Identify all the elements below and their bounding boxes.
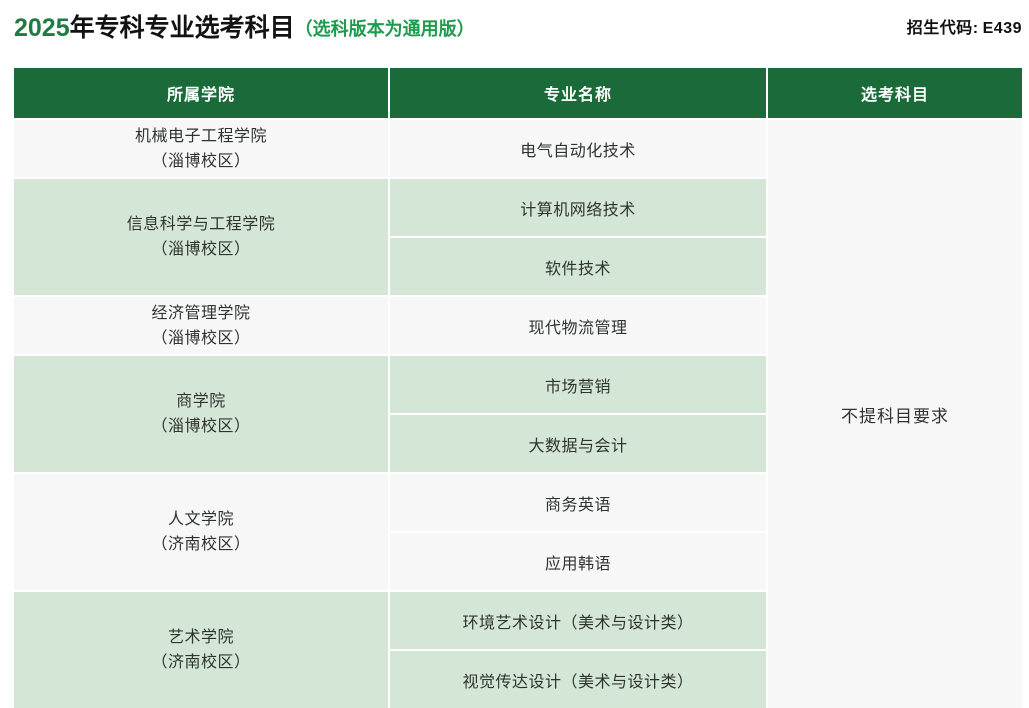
subject-selection-table: 所属学院 专业名称 选考科目 机械电子工程学院（淄博校区）信息科学与工程学院（淄… (14, 68, 1022, 708)
page-title-year: 2025 (14, 14, 70, 42)
major-group: 计算机网络技术软件技术 (390, 179, 766, 295)
major-group: 电气自动化技术 (390, 120, 766, 177)
admission-code-label: 招生代码: (907, 20, 979, 37)
college-campus: （济南校区） (151, 650, 250, 675)
table-header-subject: 选考科目 (768, 68, 1022, 118)
major-column: 电气自动化技术计算机网络技术软件技术现代物流管理市场营销大数据与会计商务英语应用… (390, 120, 766, 708)
major-cell: 应用韩语 (390, 533, 766, 590)
college-name: 艺术学院 (168, 625, 234, 650)
college-campus: （淄博校区） (151, 326, 250, 351)
college-cell: 信息科学与工程学院（淄博校区） (14, 179, 388, 295)
college-cell: 经济管理学院（淄博校区） (14, 297, 388, 354)
major-group: 商务英语应用韩语 (390, 474, 766, 590)
college-name: 信息科学与工程学院 (127, 212, 276, 237)
college-name: 经济管理学院 (151, 301, 250, 326)
college-cell: 人文学院（济南校区） (14, 474, 388, 590)
college-campus: （淄博校区） (151, 149, 250, 174)
major-cell: 大数据与会计 (390, 415, 766, 472)
page-title: 2025年专科专业选考科目（选科版本为通用版） (14, 13, 475, 45)
major-cell: 环境艺术设计（美术与设计类） (390, 592, 766, 649)
page-title-main: 年专科专业选考科目 (70, 14, 295, 42)
college-name: 人文学院 (168, 507, 234, 532)
table-body: 机械电子工程学院（淄博校区）信息科学与工程学院（淄博校区）经济管理学院（淄博校区… (14, 120, 1022, 708)
major-cell: 电气自动化技术 (390, 120, 766, 177)
major-group: 环境艺术设计（美术与设计类）视觉传达设计（美术与设计类） (390, 592, 766, 708)
subject-requirement-text: 不提科目要求 (841, 402, 949, 427)
table-header-row: 所属学院 专业名称 选考科目 (14, 68, 1022, 118)
page-title-note: （选科版本为通用版） (295, 19, 475, 39)
admission-code: 招生代码:E439 (907, 19, 1022, 39)
major-cell: 计算机网络技术 (390, 179, 766, 236)
page-header: 2025年专科专业选考科目（选科版本为通用版） 招生代码:E439 (0, 0, 1029, 60)
college-campus: （淄博校区） (151, 237, 250, 262)
table-header-major: 专业名称 (390, 68, 766, 118)
college-campus: （淄博校区） (151, 414, 250, 439)
major-cell: 市场营销 (390, 356, 766, 413)
major-group: 市场营销大数据与会计 (390, 356, 766, 472)
college-name: 机械电子工程学院 (135, 124, 267, 149)
college-campus: （济南校区） (151, 532, 250, 557)
college-cell: 商学院（淄博校区） (14, 356, 388, 472)
college-cell: 机械电子工程学院（淄博校区） (14, 120, 388, 177)
college-name: 商学院 (176, 389, 226, 414)
major-group: 现代物流管理 (390, 297, 766, 354)
table-header-college: 所属学院 (14, 68, 388, 118)
subject-requirement-cell: 不提科目要求 (768, 120, 1022, 708)
major-cell: 软件技术 (390, 238, 766, 295)
college-column: 机械电子工程学院（淄博校区）信息科学与工程学院（淄博校区）经济管理学院（淄博校区… (14, 120, 388, 708)
major-cell: 商务英语 (390, 474, 766, 531)
college-cell: 艺术学院（济南校区） (14, 592, 388, 708)
major-cell: 现代物流管理 (390, 297, 766, 354)
major-cell: 视觉传达设计（美术与设计类） (390, 651, 766, 708)
admission-code-value: E439 (983, 20, 1022, 37)
